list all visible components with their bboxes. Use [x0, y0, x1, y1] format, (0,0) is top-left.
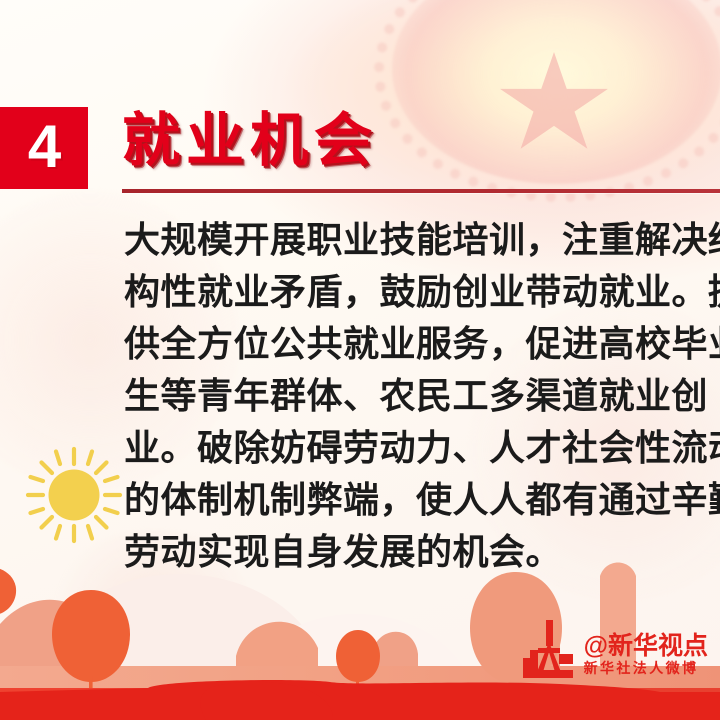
- section-number: 4: [28, 117, 60, 177]
- xinhua-logo-icon: [521, 620, 577, 678]
- watermark-subtitle: 新华社法人微博: [584, 659, 699, 678]
- body-line: 的体制机制弊端，使人人都有通过辛勤: [124, 474, 704, 526]
- watermark: @新华视点 新华社法人微博: [521, 620, 708, 678]
- page-title: 就业机会: [122, 105, 378, 178]
- watermark-handle: @新华视点: [584, 633, 708, 659]
- body-line: 供全方位公共就业服务，促进高校毕业: [124, 318, 704, 370]
- section-number-badge: 4: [0, 107, 88, 189]
- body-line: 大规模开展职业技能培训，注重解决结: [124, 214, 704, 266]
- sun-icon: [22, 443, 126, 547]
- poster-canvas: 4 就业机会 大规模开展职业技能培训，注重解决结 构性就业矛盾，鼓励创业带动就业…: [0, 0, 720, 720]
- body-line: 生等青年群体、农民工多渠道就业创: [124, 370, 704, 422]
- watermark-text: @新华视点 新华社法人微博: [584, 633, 708, 678]
- body-paragraph: 大规模开展职业技能培训，注重解决结 构性就业矛盾，鼓励创业带动就业。提 供全方位…: [124, 214, 704, 578]
- body-line: 构性就业矛盾，鼓励创业带动就业。提: [124, 266, 704, 318]
- body-line: 业。破除妨碍劳动力、人才社会性流动: [124, 422, 704, 474]
- title-divider: [122, 189, 720, 193]
